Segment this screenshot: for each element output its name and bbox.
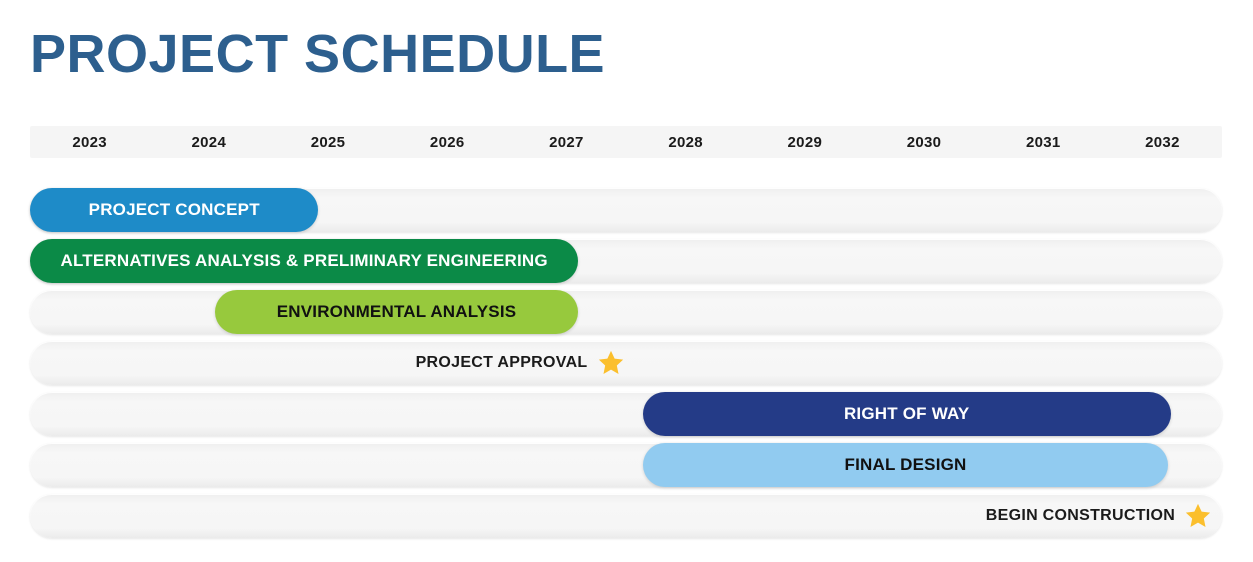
gantt-track: PROJECT APPROVAL <box>30 341 1222 385</box>
star-icon <box>1184 502 1212 530</box>
star-glyph <box>597 349 625 377</box>
timeline-year-header: 2023202420252026202720282029203020312032 <box>30 126 1222 158</box>
page-title: PROJECT SCHEDULE <box>30 22 605 86</box>
star-icon <box>597 349 625 377</box>
gantt-bar[interactable]: PROJECT CONCEPT <box>30 188 318 232</box>
gantt-bar[interactable]: ENVIRONMENTAL ANALYSIS <box>215 290 579 334</box>
year-label-2028: 2028 <box>626 126 745 158</box>
gantt-track: BEGIN CONSTRUCTION <box>30 494 1222 538</box>
gantt-track: ENVIRONMENTAL ANALYSIS <box>30 290 1222 334</box>
gantt-milestone[interactable]: PROJECT APPROVAL <box>30 341 625 385</box>
gantt-bar-label: ENVIRONMENTAL ANALYSIS <box>277 302 517 322</box>
gantt-milestone[interactable]: BEGIN CONSTRUCTION <box>30 494 1212 538</box>
year-label-2024: 2024 <box>149 126 268 158</box>
gantt-bar[interactable]: RIGHT OF WAY <box>643 392 1171 436</box>
gantt-milestone-label: BEGIN CONSTRUCTION <box>986 507 1175 525</box>
gantt-bar[interactable]: FINAL DESIGN <box>643 443 1169 487</box>
year-label-2029: 2029 <box>745 126 864 158</box>
gantt-track: RIGHT OF WAY <box>30 392 1222 436</box>
year-label-2027: 2027 <box>507 126 626 158</box>
year-label-2023: 2023 <box>30 126 149 158</box>
gantt-track: ALTERNATIVES ANALYSIS & PRELIMINARY ENGI… <box>30 239 1222 283</box>
gantt-bar[interactable]: ALTERNATIVES ANALYSIS & PRELIMINARY ENGI… <box>30 239 578 283</box>
star-glyph <box>1184 502 1212 530</box>
gantt-track: PROJECT CONCEPT <box>30 188 1222 232</box>
gantt-track-list: PROJECT CONCEPTALTERNATIVES ANALYSIS & P… <box>30 188 1222 545</box>
year-list: 2023202420252026202720282029203020312032 <box>30 126 1222 158</box>
gantt-bar-label: ALTERNATIVES ANALYSIS & PRELIMINARY ENGI… <box>60 251 547 271</box>
year-label-2026: 2026 <box>388 126 507 158</box>
gantt-bar-label: RIGHT OF WAY <box>844 404 970 424</box>
year-label-2030: 2030 <box>864 126 983 158</box>
gantt-bar-label: PROJECT CONCEPT <box>89 200 260 220</box>
year-label-2031: 2031 <box>984 126 1103 158</box>
gantt-bar-label: FINAL DESIGN <box>845 455 967 475</box>
gantt-track: FINAL DESIGN <box>30 443 1222 487</box>
project-schedule-chart: PROJECT SCHEDULE 20232024202520262027202… <box>0 0 1253 562</box>
year-label-2032: 2032 <box>1103 126 1222 158</box>
gantt-milestone-label: PROJECT APPROVAL <box>416 354 588 372</box>
year-label-2025: 2025 <box>268 126 387 158</box>
